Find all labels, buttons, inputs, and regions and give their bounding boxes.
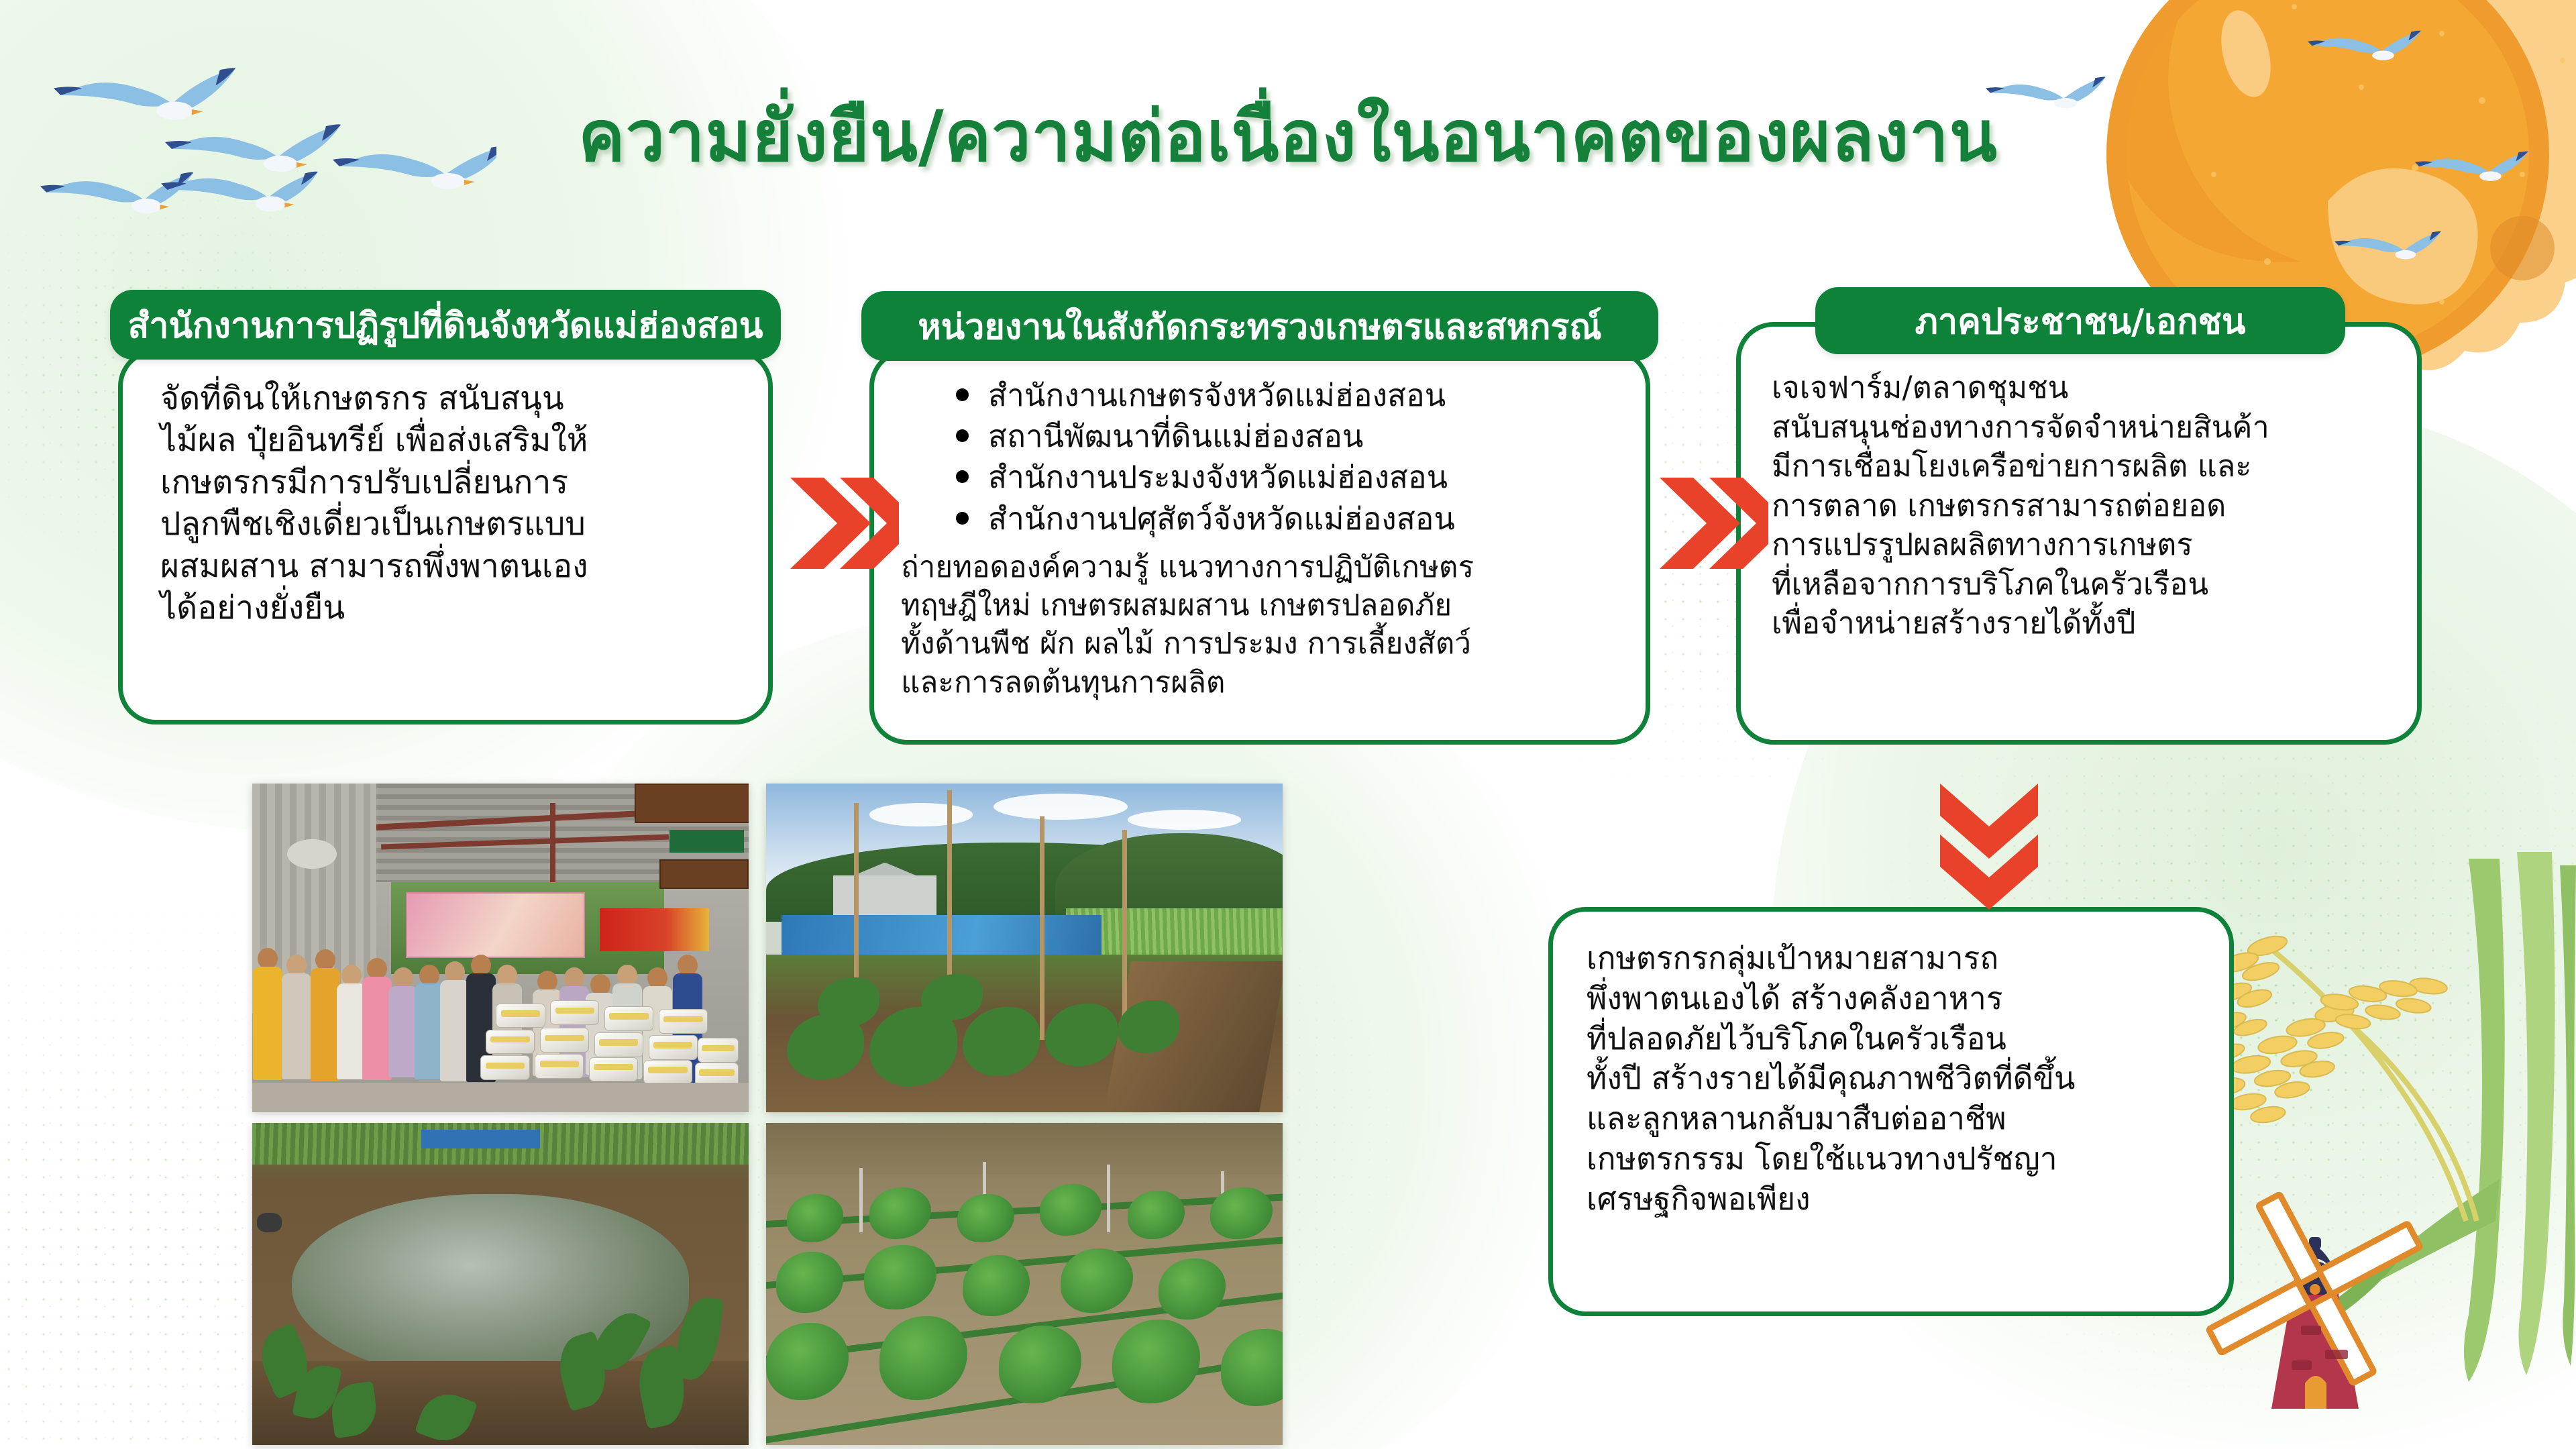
box-land-reform-office-body: จัดที่ดินให้เกษตรกร สนับสนุน ไม้ผล ปุ๋ยอ… [118, 349, 773, 724]
box-land-reform-office-header: สำนักงานการปฏิรูปที่ดินจังหวัดแม่ฮ่องสอน [110, 290, 781, 360]
box-moac-agencies-bullets: สำนักงานเกษตรจังหวัดแม่ฮ่องสอน สถานีพัฒน… [951, 375, 1635, 539]
box-outcome-body: เกษตรกรกลุ่มเป้าหมายสามารถ พึ่งพาตนเองได… [1548, 907, 2234, 1316]
list-item: สำนักงานปศุสัตว์จังหวัดแม่ฮ่องสอน [951, 498, 1635, 539]
box-moac-agencies-header: หน่วยงานในสังกัดกระทรวงเกษตรและสหกรณ์ [861, 291, 1658, 361]
box-moac-agencies-text: ถ่ายทอดองค์ความรู้ แนวทางการปฏิบัติเกษตร… [901, 548, 1632, 702]
box-moac-agencies-body: สำนักงานเกษตรจังหวัดแม่ฮ่องสอน สถานีพัฒน… [869, 349, 1650, 745]
page-title: ความยั่งยืน/ความต่อเนื่องในอนาคตของผลงาน [0, 80, 2576, 191]
photo-integrated-farm-plot [766, 784, 1283, 1112]
double-chevron-right-icon [785, 470, 899, 580]
box-land-reform-office-text: จัดที่ดินให้เกษตรกร สนับสนุน ไม้ผล ปุ๋ยอ… [160, 378, 751, 629]
box-public-private-body: เจเจฟาร์ม/ตลาดชุมชน สนับสนุนช่องทางการจั… [1736, 322, 2422, 745]
flying-bird-icon [2308, 20, 2422, 70]
photo-group-donation [252, 784, 749, 1112]
list-item: สำนักงานเกษตรจังหวัดแม่ฮ่องสอน [951, 375, 1635, 416]
photo-chili-rows [766, 1123, 1283, 1445]
flying-bird-icon [2334, 221, 2442, 268]
photo-gallery [252, 784, 1299, 1448]
double-chevron-right-icon [1654, 470, 1768, 580]
box-outcome-text: เกษตรกรกลุ่มเป้าหมายสามารถ พึ่งพาตนเองได… [1587, 938, 2231, 1220]
box-public-private-header: ภาคประชาชน/เอกชน [1815, 287, 2345, 354]
list-item: สถานีพัฒนาที่ดินแม่ฮ่องสอน [951, 416, 1635, 457]
box-public-private-text: เจเจฟาร์ม/ตลาดชุมชน สนับสนุนช่องทางการจั… [1772, 368, 2416, 643]
photo-farm-pond [252, 1123, 749, 1445]
list-item: สำนักงานประมงจังหวัดแม่ฮ่องสอน [951, 457, 1635, 498]
double-chevron-down-icon [1932, 778, 2046, 915]
